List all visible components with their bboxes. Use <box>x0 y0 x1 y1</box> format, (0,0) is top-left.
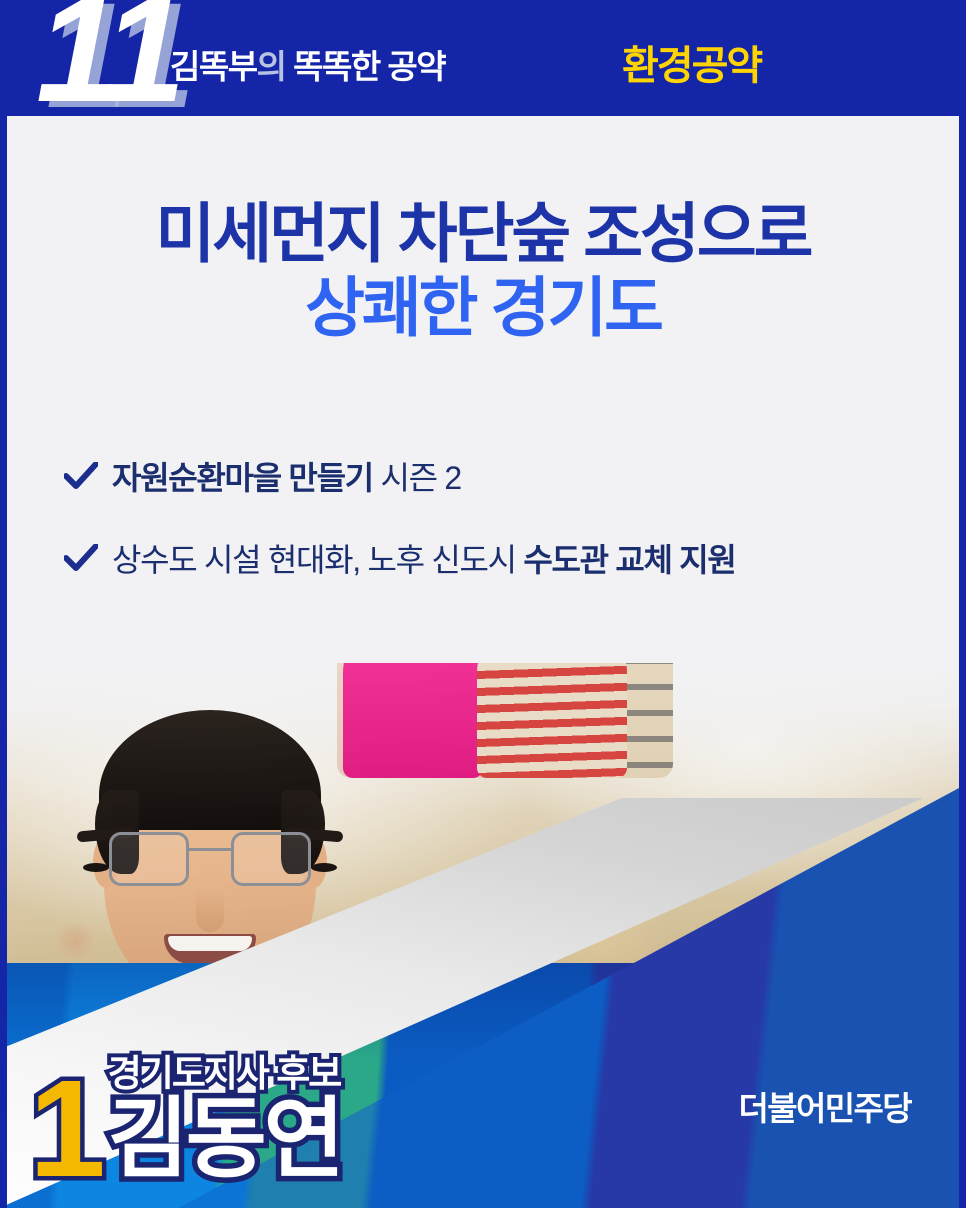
promise-list: 자원순환마을 만들기 시즌 2 상수도 시설 현대화, 노후 신도시 수도관 교… <box>62 453 942 617</box>
candidate-nose <box>196 890 224 932</box>
glasses-lens-left <box>109 832 189 886</box>
slogan-part2: 똑똑한 공약 <box>285 48 445 85</box>
candidate-teeth <box>168 936 252 951</box>
list-item-bold: 자원순환마을 만들기 <box>112 460 373 496</box>
check-icon <box>62 539 100 577</box>
glasses-lens-right <box>231 832 311 886</box>
list-item-text: 자원순환마을 만들기 시즌 2 <box>112 453 461 499</box>
list-item: 상수도 시설 현대화, 노후 신도시 수도관 교체 지원 <box>62 535 942 581</box>
slogan-part1: 김똑부 <box>170 48 257 85</box>
campaign-poster: 11 김똑부의 똑똑한 공약 환경공약 미세먼지 차단숲 조성으로 상쾌한 경기… <box>0 0 966 1208</box>
candidate-name: 김동연 <box>108 1096 342 1182</box>
header-slogan: 김똑부의 똑똑한 공약 <box>170 40 445 88</box>
candidate-hair <box>99 710 321 830</box>
candidate-identity-block: 1 경기도지사 후보 김동연 <box>29 1055 342 1186</box>
check-icon <box>62 457 100 495</box>
right-border-strip <box>959 110 966 1208</box>
candidate-eye-right <box>311 863 337 872</box>
category-badge: 환경공약 <box>622 33 761 91</box>
list-item-regular: 시즌 2 <box>373 460 461 496</box>
headline-line-1: 미세먼지 차단숲 조성으로 <box>7 198 959 271</box>
left-border-strip <box>0 110 7 1208</box>
poster-header: 11 김똑부의 똑똑한 공약 환경공약 <box>0 0 966 116</box>
glasses-icon <box>107 832 313 890</box>
list-item-regular: 상수도 시설 현대화, 노후 신도시 <box>112 542 523 578</box>
promise-number: 11 <box>36 0 180 116</box>
candidate-eye-left <box>83 863 109 872</box>
glasses-bridge <box>189 848 231 851</box>
headline-line-2: 상쾌한 경기도 <box>7 271 959 346</box>
headline-block: 미세먼지 차단숲 조성으로 상쾌한 경기도 <box>7 198 959 346</box>
poster-body: 미세먼지 차단숲 조성으로 상쾌한 경기도 자원순환마을 만들기 시즌 2 상수 <box>7 116 959 1208</box>
candidate-role-label: 경기도지사 후보 <box>108 1055 342 1094</box>
son-torso <box>477 663 627 778</box>
party-logo-text: 더불어민주당 <box>738 1082 911 1130</box>
list-item: 자원순환마을 만들기 시즌 2 <box>62 453 942 499</box>
candidate-name-group: 경기도지사 후보 김동연 <box>108 1055 342 1186</box>
candidate-cheek-left <box>51 924 99 958</box>
list-item-text: 상수도 시설 현대화, 노후 신도시 수도관 교체 지원 <box>112 535 736 581</box>
ballot-number: 1 <box>29 1073 102 1186</box>
list-item-bold: 수도관 교체 지원 <box>523 542 735 578</box>
slogan-particle: 의 <box>257 48 286 85</box>
